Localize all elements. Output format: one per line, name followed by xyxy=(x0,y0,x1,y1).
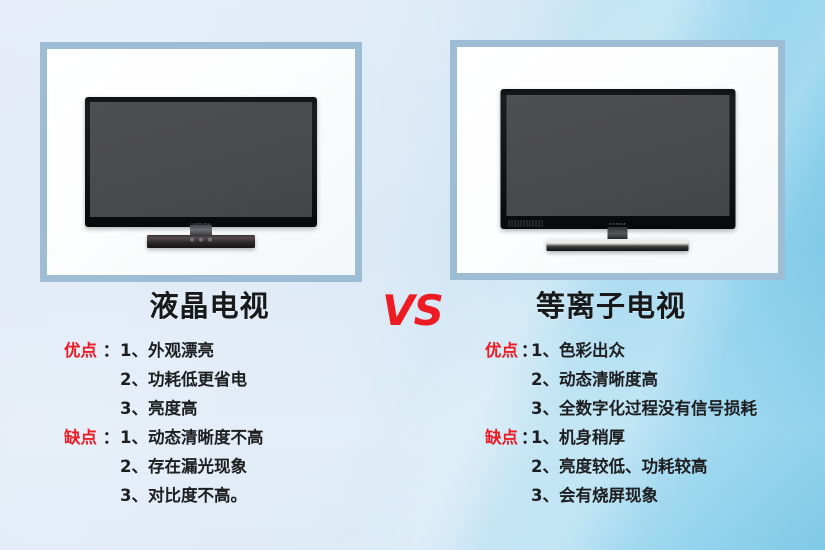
tv-bezel: SAMSUNG xyxy=(85,97,317,227)
spec-row: 优点 ： 1、色彩出众 xyxy=(485,337,825,366)
spec-colon: ： xyxy=(521,337,531,361)
spec-group-label: 优点 xyxy=(64,337,102,361)
spec-item: 2、存在漏光现象 xyxy=(120,453,247,477)
spec-row: 优点 ： 3、全数字化过程没有信号损耗 xyxy=(485,395,825,424)
spec-row: 优点 ： 2、动态清晰度高 xyxy=(485,366,825,395)
plasma-photo-card: HISENSE xyxy=(450,40,785,280)
spec-group-label: 优点 xyxy=(64,366,102,390)
spec-colon: ： xyxy=(102,395,120,419)
spec-colon: ： xyxy=(102,337,120,361)
spec-colon: ： xyxy=(521,395,531,419)
lcd-spec-list: 优点 ： 1、外观漂亮 优点 ： 2、功耗低更省电 优点 ： 3、亮度高 缺点 … xyxy=(0,337,415,511)
tv-screen xyxy=(506,95,729,216)
lcd-photo-card: SAMSUNG xyxy=(40,42,362,282)
spec-row: 缺点 ： 1、动态清晰度不高 xyxy=(64,424,415,453)
comparison-infographic: SAMSUNG HISENSE VS 液晶电 xyxy=(0,0,825,550)
spec-colon: ： xyxy=(521,482,531,506)
plasma-title: 等离子电视 xyxy=(415,292,825,321)
spec-group-label: 缺点 xyxy=(64,453,102,477)
plasma-column: 等离子电视 优点 ： 1、色彩出众 优点 ： 2、动态清晰度高 优点 ： 3、全… xyxy=(415,292,825,511)
spec-item: 3、对比度不高。 xyxy=(120,482,247,506)
spec-item: 1、动态清晰度不高 xyxy=(120,424,263,448)
spec-item: 2、功耗低更省电 xyxy=(120,366,247,390)
spec-item: 1、机身稍厚 xyxy=(531,424,625,448)
tv-bezel: HISENSE xyxy=(500,89,735,229)
spec-row: 缺点 ： 3、会有烧屏现象 xyxy=(485,482,825,511)
spec-item: 1、外观漂亮 xyxy=(120,337,214,361)
plasma-spec-list: 优点 ： 1、色彩出众 优点 ： 2、动态清晰度高 优点 ： 3、全数字化过程没… xyxy=(415,337,825,511)
spec-group-label: 缺点 xyxy=(64,424,102,448)
spec-group-label: 缺点 xyxy=(485,424,521,448)
lcd-tv-illustration: SAMSUNG xyxy=(85,97,317,227)
lcd-photo: SAMSUNG xyxy=(47,49,355,275)
tv-brand-logo: HISENSE xyxy=(609,222,626,226)
tv-screen xyxy=(90,102,312,217)
lcd-title: 液晶电视 xyxy=(0,292,415,321)
spec-row: 优点 ： 2、功耗低更省电 xyxy=(64,366,415,395)
spec-item: 2、动态清晰度高 xyxy=(531,366,658,390)
plasma-tv-illustration: HISENSE xyxy=(500,89,735,229)
spec-group-label: 优点 xyxy=(64,395,102,419)
tv-stand-base xyxy=(547,239,689,251)
tv-stand-buttons xyxy=(188,237,214,242)
spec-group-label: 缺点 xyxy=(485,453,521,477)
spec-group-label: 缺点 xyxy=(64,482,102,506)
spec-group-label: 缺点 xyxy=(485,482,521,506)
spec-row: 优点 ： 3、亮度高 xyxy=(64,395,415,424)
spec-item: 2、亮度较低、功耗较高 xyxy=(531,453,707,477)
spec-colon: ： xyxy=(102,482,120,506)
spec-row: 缺点 ： 2、存在漏光现象 xyxy=(64,453,415,482)
spec-row: 缺点 ： 3、对比度不高。 xyxy=(64,482,415,511)
spec-colon: ： xyxy=(521,424,531,448)
spec-row: 优点 ： 1、外观漂亮 xyxy=(64,337,415,366)
spec-group-label: 优点 xyxy=(485,395,521,419)
spec-row: 缺点 ： 2、亮度较低、功耗较高 xyxy=(485,453,825,482)
spec-item: 1、色彩出众 xyxy=(531,337,625,361)
spec-group-label: 优点 xyxy=(485,337,521,361)
spec-colon: ： xyxy=(521,453,531,477)
spec-group-label: 优点 xyxy=(485,366,521,390)
spec-colon: ： xyxy=(102,366,120,390)
spec-item: 3、亮度高 xyxy=(120,395,197,419)
tv-speaker-grille xyxy=(508,220,542,227)
spec-colon: ： xyxy=(102,453,120,477)
spec-item: 3、全数字化过程没有信号损耗 xyxy=(531,395,757,419)
spec-colon: ： xyxy=(521,366,531,390)
spec-row: 缺点 ： 1、机身稍厚 xyxy=(485,424,825,453)
spec-item: 3、会有烧屏现象 xyxy=(531,482,658,506)
plasma-photo: HISENSE xyxy=(457,47,778,273)
lcd-column: 液晶电视 优点 ： 1、外观漂亮 优点 ： 2、功耗低更省电 优点 ： 3、亮度… xyxy=(0,292,415,511)
spec-colon: ： xyxy=(102,424,120,448)
